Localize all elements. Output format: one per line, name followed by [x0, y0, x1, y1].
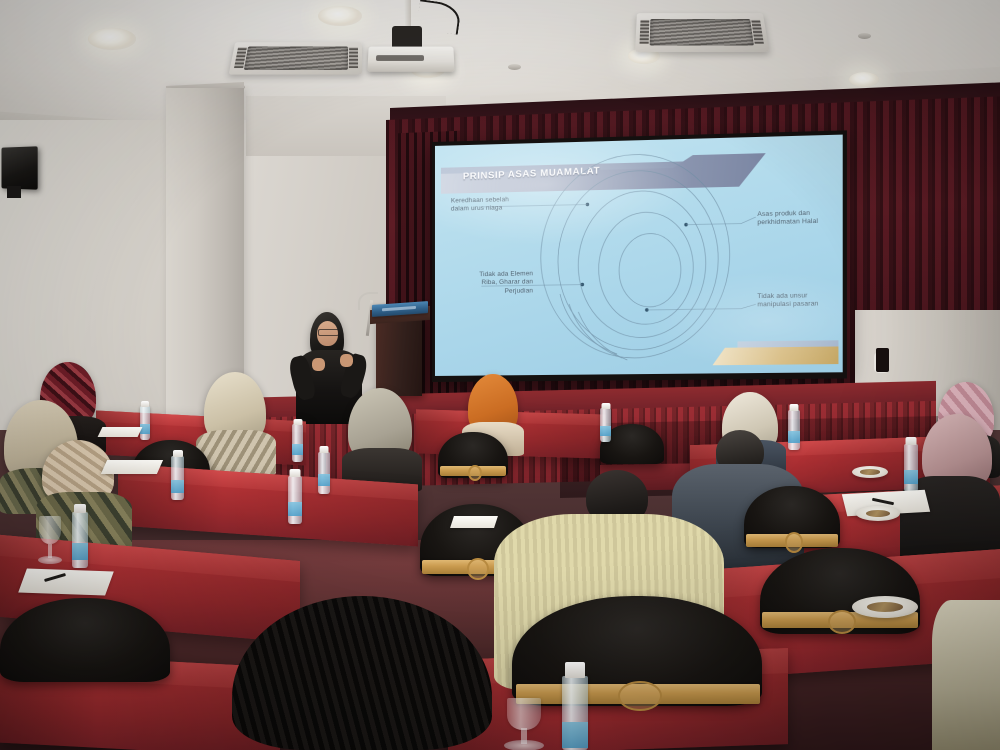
plate-food	[860, 469, 880, 475]
slide-label-1: Keredhaan sebelah dalam urus niaga	[451, 196, 535, 215]
water-bottle	[171, 456, 184, 500]
bottle-label	[288, 502, 302, 516]
slide-label-3: Tidak ada Elemen Riba, Gharar dan Perjud…	[443, 270, 533, 297]
food-plate	[852, 596, 918, 618]
slide-spiral-diagram	[435, 135, 843, 376]
wall-speaker-right	[876, 348, 889, 372]
bottle-label	[171, 480, 184, 493]
bottle-label	[562, 722, 588, 748]
water-bottle	[318, 452, 330, 494]
wall-speaker-bracket	[7, 186, 21, 198]
bottle-label	[904, 470, 918, 484]
lectern-podium	[376, 318, 422, 396]
chair-sash	[746, 534, 838, 547]
head	[232, 596, 492, 750]
note-paper	[450, 516, 498, 528]
water-bottle	[72, 512, 88, 568]
attendee-right-edge	[932, 600, 1000, 750]
note-paper	[98, 427, 143, 437]
ac-vent-slot	[349, 48, 358, 68]
ac-vent-slot	[751, 20, 764, 44]
attendee-foreground-dark-hair	[232, 596, 492, 750]
water-bottle	[292, 424, 303, 462]
water-bottle	[140, 406, 150, 440]
plate-food	[866, 510, 891, 517]
bottle-cap	[790, 404, 799, 411]
bottle-cap	[565, 662, 585, 678]
note-paper	[18, 568, 114, 595]
drinking-glass	[507, 698, 541, 730]
presenter-hand-right	[340, 354, 353, 367]
bottle-label	[292, 444, 303, 455]
plate-food	[867, 602, 904, 612]
bottle-cap	[141, 401, 149, 407]
water-bottle	[904, 444, 918, 492]
bottle-cap	[906, 437, 917, 445]
bottle-cap	[320, 446, 329, 453]
smoke-detector-icon	[508, 64, 521, 70]
torso	[932, 600, 1000, 750]
glass-base	[504, 740, 544, 750]
seminar-room-photo: PRINSIP ASAS MUAMALAT	[0, 0, 1000, 750]
water-bottle	[600, 408, 611, 442]
ceiling-projector	[367, 47, 454, 72]
food-plate	[856, 506, 900, 521]
wall-speaker-left	[2, 146, 38, 189]
food-plate	[852, 466, 888, 478]
water-bottle	[788, 410, 800, 450]
ac-cassette-left	[229, 42, 363, 74]
bottle-cap	[293, 419, 302, 425]
presenter-hand-left	[312, 358, 325, 371]
bottle-label	[140, 424, 150, 434]
bottle-cap	[290, 469, 301, 477]
attendee-cream-hijab	[196, 372, 276, 472]
bottle-cap	[601, 403, 610, 409]
slide-label-2: Asas produk dan perkhidmatan Halal	[757, 209, 842, 228]
bottle-cap	[74, 504, 86, 513]
bottle-label	[600, 426, 611, 436]
presenter-glasses	[318, 329, 339, 336]
downlight	[88, 28, 136, 50]
bottle-cap	[173, 450, 183, 457]
slide-footer-bar	[712, 346, 838, 365]
smoke-detector-icon	[858, 33, 871, 39]
ac-vent-slot	[639, 20, 649, 44]
water-bottle	[288, 476, 302, 524]
attendee-grey-hijab	[342, 388, 422, 488]
ac-grille	[650, 19, 754, 46]
ac-grille	[244, 47, 348, 70]
water-bottle	[562, 676, 588, 750]
note-paper	[101, 460, 163, 474]
projection-screen: PRINSIP ASAS MUAMALAT	[432, 130, 847, 382]
downlight	[849, 72, 879, 87]
bottle-label	[318, 474, 330, 486]
slide-surface: PRINSIP ASAS MUAMALAT	[435, 135, 843, 376]
bottle-label	[788, 431, 800, 443]
chair-sash	[516, 684, 760, 704]
bottle-label	[72, 543, 88, 560]
downlight	[318, 6, 362, 26]
glass-base	[38, 556, 62, 564]
drinking-glass	[39, 516, 61, 544]
ac-cassette-right	[635, 13, 769, 52]
slide-label-4: Tidak ada unsur manipulasi pasaran	[757, 292, 842, 311]
